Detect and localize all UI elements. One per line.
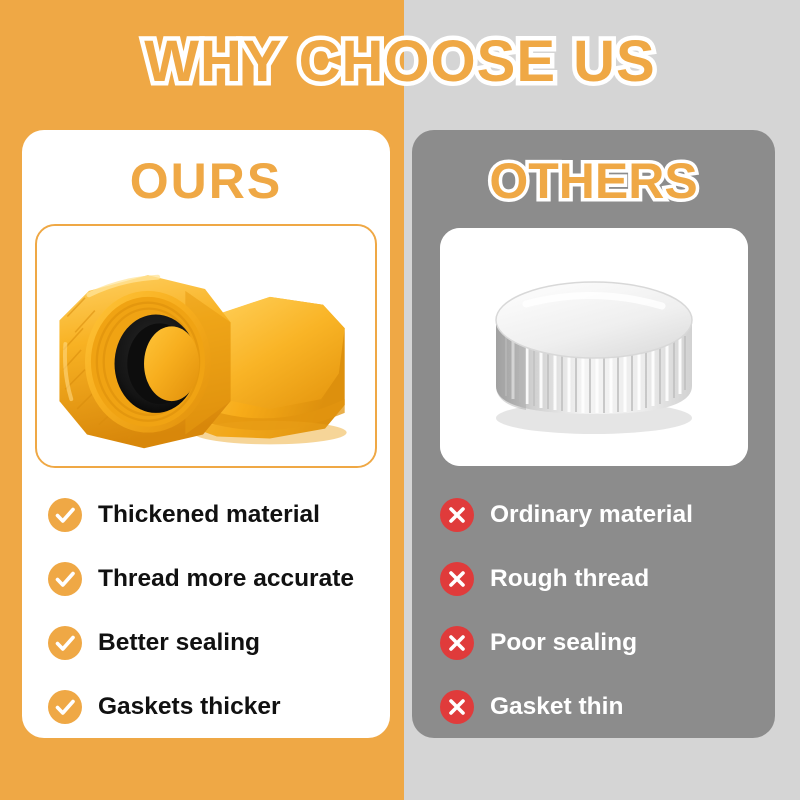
ours-feature-list: Thickened material Thread more accurate …: [22, 486, 416, 742]
card-others-title: OTHERS: [412, 152, 775, 210]
page-title: WHY CHOOSE US: [0, 28, 800, 95]
yellow-caps-image: [37, 226, 375, 466]
cross-icon: [440, 498, 474, 532]
list-item: Better sealing: [48, 614, 416, 672]
cross-icon: [440, 626, 474, 660]
others-product-photo-frame: [440, 228, 748, 466]
ours-product-photo-frame: [35, 224, 377, 468]
others-feature-list: Ordinary material Rough thread Poor seal…: [412, 486, 800, 742]
list-item: Thread more accurate: [48, 550, 416, 608]
card-ours: OURS: [22, 130, 390, 738]
list-item: Gaskets thicker: [48, 678, 416, 736]
check-icon: [48, 626, 82, 660]
comparison-infographic: WHY CHOOSE US OURS: [0, 0, 800, 800]
list-item-label: Rough thread: [490, 565, 649, 593]
card-others: OTHERS: [412, 130, 775, 738]
list-item-label: Thread more accurate: [98, 565, 354, 593]
list-item: Thickened material: [48, 486, 416, 544]
list-item-label: Gaskets thicker: [98, 693, 281, 721]
list-item: Gasket thin: [440, 678, 800, 736]
cross-icon: [440, 690, 474, 724]
list-item-label: Ordinary material: [490, 501, 693, 529]
list-item-label: Better sealing: [98, 629, 260, 657]
list-item-label: Thickened material: [98, 501, 320, 529]
white-cap-image: [440, 228, 748, 466]
list-item-label: Gasket thin: [490, 693, 623, 721]
cross-icon: [440, 562, 474, 596]
list-item: Rough thread: [440, 550, 800, 608]
list-item: Poor sealing: [440, 614, 800, 672]
check-icon: [48, 498, 82, 532]
check-icon: [48, 562, 82, 596]
list-item-label: Poor sealing: [490, 629, 637, 657]
yellow-cap-open: [59, 275, 230, 448]
card-ours-title: OURS: [22, 152, 390, 210]
check-icon: [48, 690, 82, 724]
list-item: Ordinary material: [440, 486, 800, 544]
